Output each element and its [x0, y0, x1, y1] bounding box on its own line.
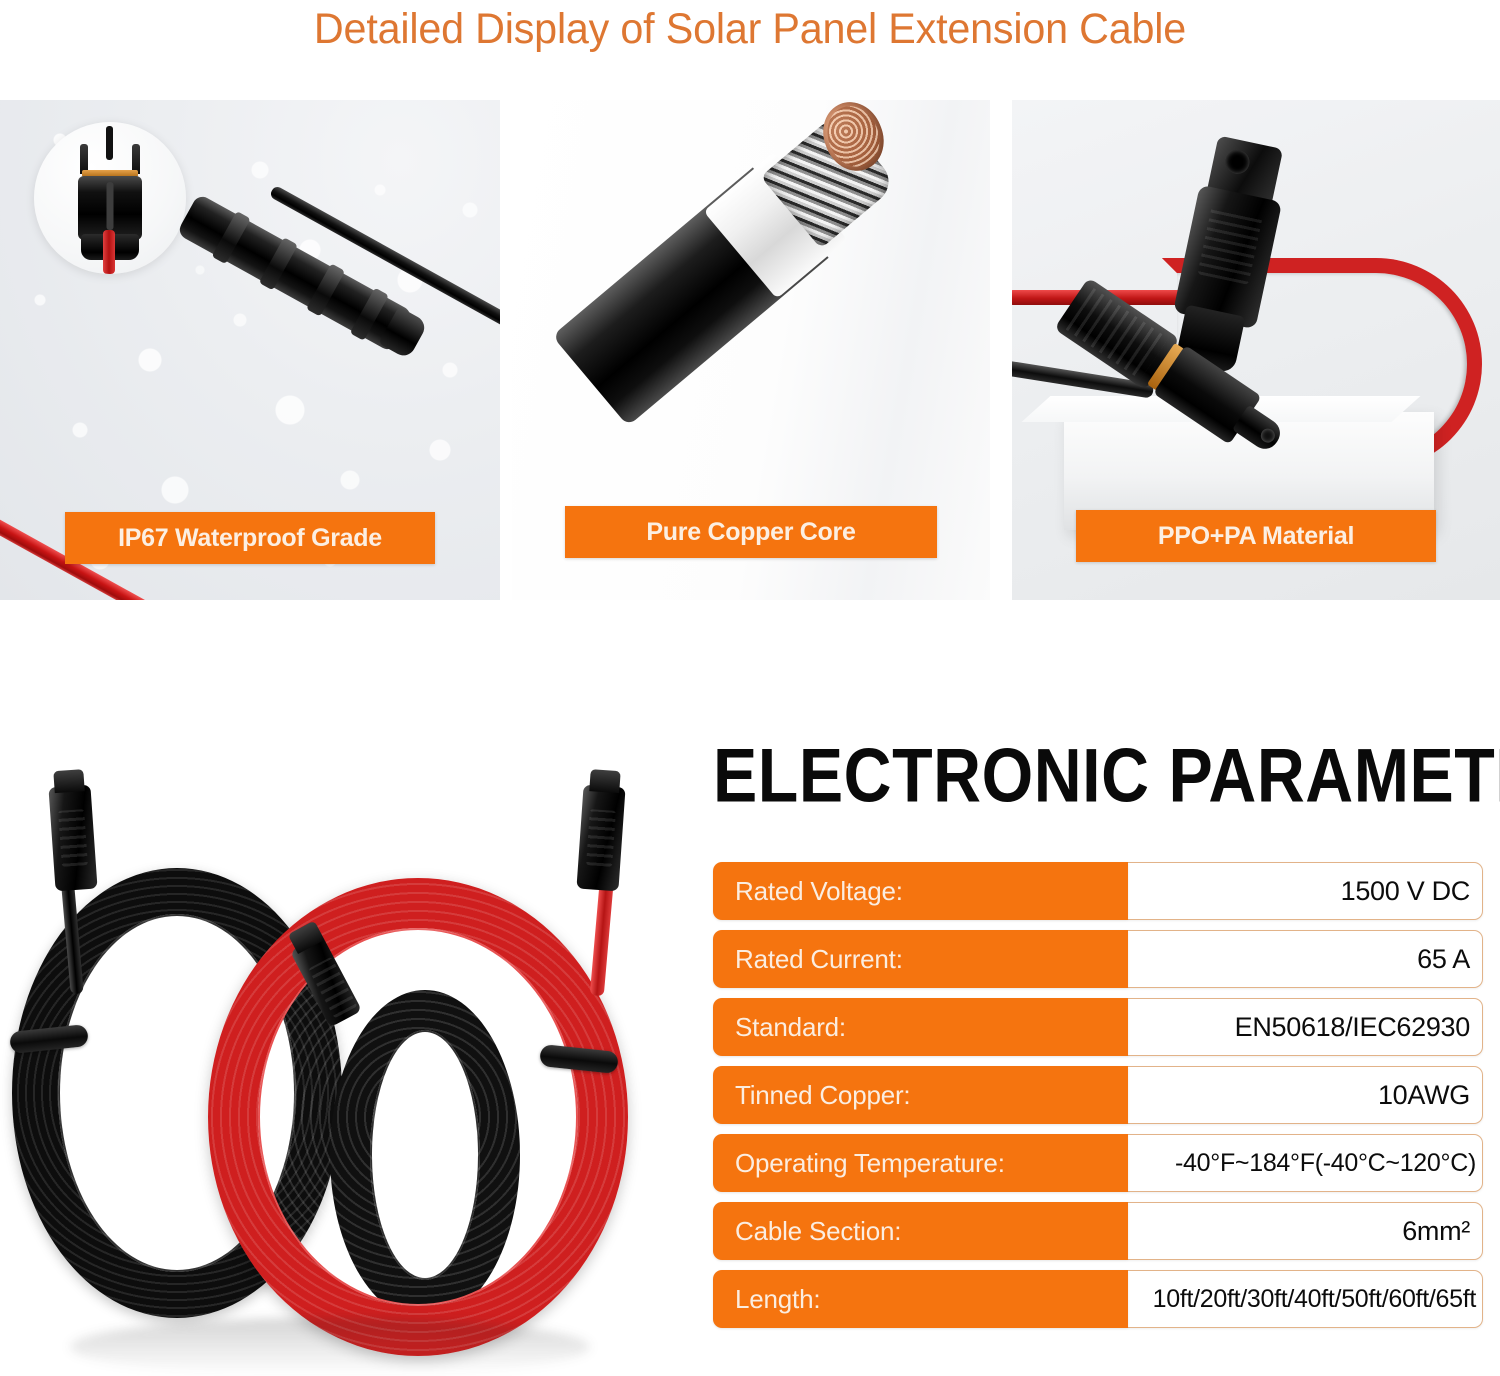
feature-panels-row: IP67 Waterproof Grade Pure Copper Core — [0, 100, 1500, 600]
panel-caption-material: PPO+PA Material — [1076, 510, 1436, 562]
table-row: Tinned Copper: 10AWG — [713, 1066, 1483, 1124]
red-cable-coil — [208, 878, 628, 1356]
panel-caption-waterproof: IP67 Waterproof Grade — [65, 512, 435, 564]
parameter-value: 6mm² — [1128, 1202, 1483, 1260]
coiled-solar-extension-cables-photo — [0, 760, 690, 1376]
parameter-label: Tinned Copper: — [713, 1066, 1128, 1124]
parameter-table: Rated Voltage: 1500 V DC Rated Current: … — [713, 862, 1483, 1338]
electronic-parameter-heading: ELECTRONIC PARAMETER — [713, 732, 1500, 822]
parameter-value: -40°F~184°F(-40°C~120°C) — [1128, 1134, 1483, 1192]
table-row: Length: 10ft/20ft/30ft/40ft/50ft/60ft/65… — [713, 1270, 1483, 1328]
parameter-label: Length: — [713, 1270, 1128, 1328]
parameter-value: 1500 V DC — [1128, 862, 1483, 920]
parameter-value: EN50618/IEC62930 — [1128, 998, 1483, 1056]
table-row: Rated Current: 65 A — [713, 930, 1483, 988]
page-title: Detailed Display of Solar Panel Extensio… — [30, 0, 1470, 62]
parameter-value: 65 A — [1128, 930, 1483, 988]
parameter-label: Cable Section: — [713, 1202, 1128, 1260]
mc4-connector-black — [48, 785, 97, 892]
mc4-connector-red — [576, 785, 625, 892]
feature-panel-material: PPO+PA Material — [1012, 100, 1500, 600]
parameter-label: Standard: — [713, 998, 1128, 1056]
parameter-label: Rated Current: — [713, 930, 1128, 988]
table-row: Cable Section: 6mm² — [713, 1202, 1483, 1260]
parameter-value: 10ft/20ft/30ft/40ft/50ft/60ft/65ft — [1128, 1270, 1483, 1328]
electronic-parameter-section: ELECTRONIC PARAMETER Rated Voltage: 1500… — [713, 740, 1483, 844]
parameter-label: Rated Voltage: — [713, 862, 1128, 920]
feature-panel-copper-core: Pure Copper Core — [512, 100, 990, 600]
table-row: Rated Voltage: 1500 V DC — [713, 862, 1483, 920]
feature-panel-waterproof: IP67 Waterproof Grade — [0, 100, 500, 600]
parameter-value: 10AWG — [1128, 1066, 1483, 1124]
table-row: Standard: EN50618/IEC62930 — [713, 998, 1483, 1056]
panel-caption-copper-core: Pure Copper Core — [565, 506, 937, 558]
coil-reflection — [70, 1318, 590, 1376]
table-row: Operating Temperature: -40°F~184°F(-40°C… — [713, 1134, 1483, 1192]
connector-closeup-inset — [34, 122, 186, 274]
parameter-label: Operating Temperature: — [713, 1134, 1128, 1192]
